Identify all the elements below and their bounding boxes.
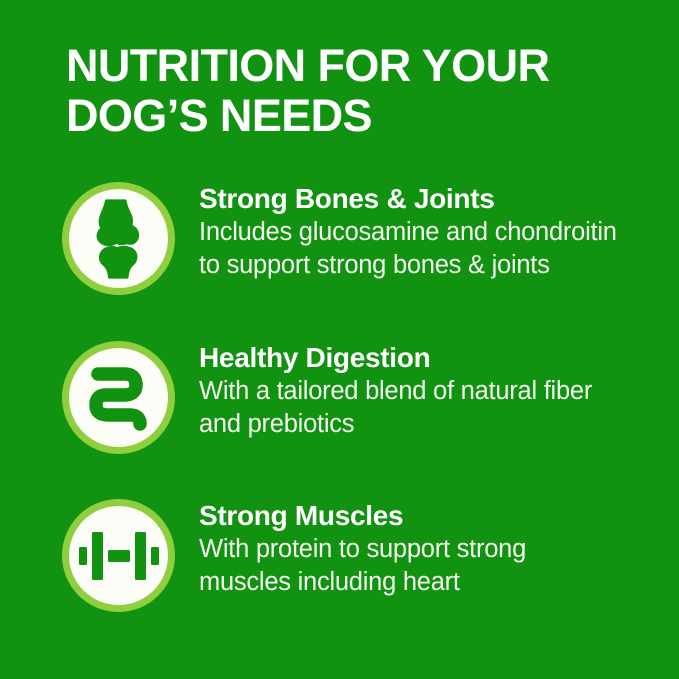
feature-text-bones-joints: Strong Bones & Joints Includes glucosami…: [175, 182, 622, 282]
bone-joint-icon-badge: [62, 182, 175, 295]
intestine-icon: [84, 361, 154, 435]
feature-description: With protein to support strong muscles i…: [199, 533, 622, 599]
dumbbell-icon: [79, 530, 159, 582]
feature-description: With a tailored blend of natural fiber a…: [199, 375, 622, 441]
feature-text-digestion: Healthy Digestion With a tailored blend …: [175, 341, 622, 441]
feature-text-muscles: Strong Muscles With protein to support s…: [175, 499, 622, 599]
feature-item-muscles: Strong Muscles With protein to support s…: [62, 499, 622, 612]
nutrition-infographic: NUTRITION FOR YOUR DOG’S NEEDS Strong Bo…: [0, 0, 679, 679]
bone-joint-icon: [83, 198, 155, 280]
dumbbell-icon-badge: [62, 499, 175, 612]
page-title: NUTRITION FOR YOUR DOG’S NEEDS: [66, 41, 626, 141]
feature-item-digestion: Healthy Digestion With a tailored blend …: [62, 341, 622, 454]
feature-title: Strong Muscles: [199, 500, 622, 532]
feature-item-bones-joints: Strong Bones & Joints Includes glucosami…: [62, 182, 622, 295]
feature-title: Healthy Digestion: [199, 342, 622, 374]
intestine-icon-badge: [62, 341, 175, 454]
feature-title: Strong Bones & Joints: [199, 183, 622, 215]
feature-description: Includes glucosamine and chondroitin to …: [199, 216, 622, 282]
